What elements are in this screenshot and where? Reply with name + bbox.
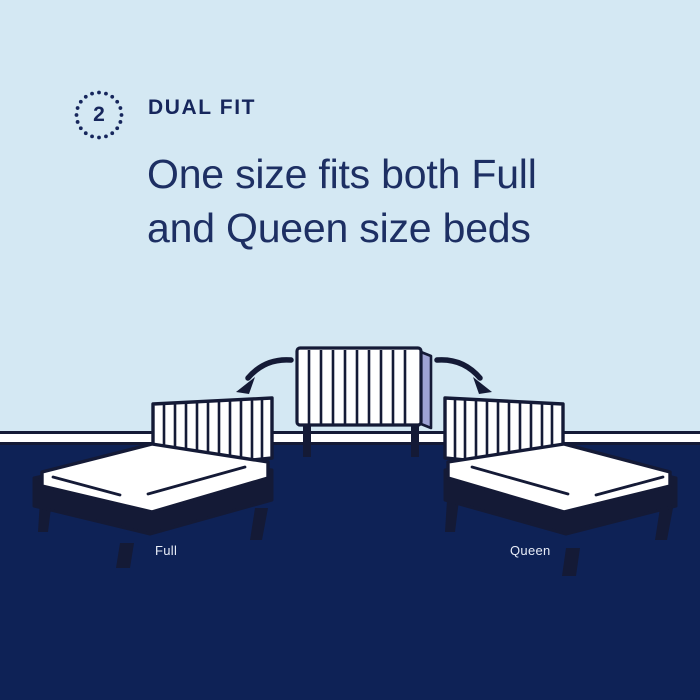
bed-queen-leg-front <box>562 548 580 576</box>
bed-full-leg-right <box>250 508 268 540</box>
bedroom-illustration <box>0 0 700 700</box>
bed-label-full: Full <box>155 543 177 558</box>
headboard-body <box>297 348 421 425</box>
bed-full <box>34 398 272 568</box>
dual-fit-poster: 2 DUAL FIT One size fits both Full and Q… <box>0 0 700 700</box>
bed-queen-leg-right <box>655 508 673 540</box>
arrow-to-full <box>236 360 291 394</box>
arrow-to-queen <box>437 360 492 394</box>
headboard-leg-left <box>303 424 311 457</box>
universal-headboard <box>297 348 431 457</box>
bed-queen <box>445 398 676 576</box>
bed-label-queen: Queen <box>510 543 551 558</box>
headboard-leg-right <box>411 424 419 457</box>
bed-full-leg-front <box>116 543 134 568</box>
